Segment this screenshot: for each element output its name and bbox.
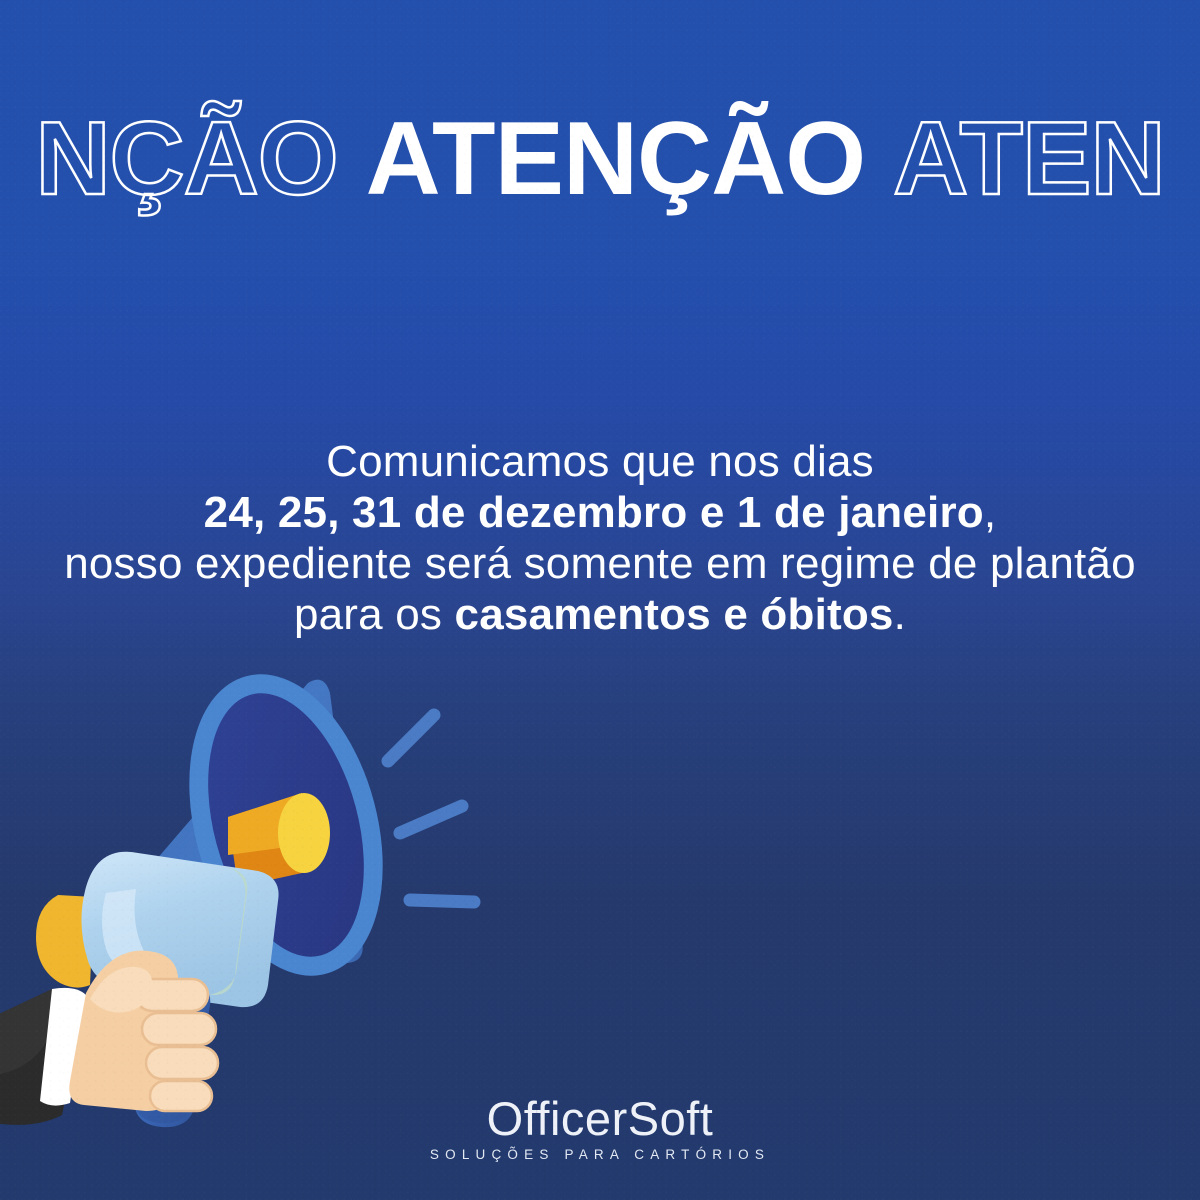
announcement-poster: NÇÃO ATENÇÃO ATEN Comunicamos que nos di…: [0, 0, 1200, 1200]
message-line-4-lead: para os: [294, 590, 455, 639]
message-line-4-tail: .: [894, 590, 906, 639]
page-title: ATENÇÃO: [352, 107, 880, 211]
message-line-2-dates: 24, 25, 31 de dezembro e 1 de janeiro: [204, 488, 984, 537]
brand-tagline: SOLUÇÕES PARA CARTÓRIOS: [0, 1147, 1200, 1162]
message-line-4-services: casamentos e óbitos: [455, 590, 894, 639]
message-line-1: Comunicamos que nos dias: [0, 436, 1200, 487]
sound-wave-lines: [388, 715, 474, 902]
message-line-2-tail: ,: [984, 488, 996, 537]
brand-name: OfficerSoft: [0, 1095, 1200, 1144]
message-line-2: 24, 25, 31 de dezembro e 1 de janeiro,: [0, 487, 1200, 538]
brand-logo: OfficerSoft SOLUÇÕES PARA CARTÓRIOS: [0, 1095, 1200, 1162]
announcement-message: Comunicamos que nos dias 24, 25, 31 de d…: [0, 436, 1200, 640]
message-line-3: nosso expediente será somente em regime …: [0, 538, 1200, 589]
headline-banner: NÇÃO ATENÇÃO ATEN: [0, 84, 1200, 234]
headline-left-partial: NÇÃO: [21, 107, 351, 211]
message-line-4: para os casamentos e óbitos.: [0, 589, 1200, 640]
headline-right-partial: ATEN: [879, 107, 1178, 211]
